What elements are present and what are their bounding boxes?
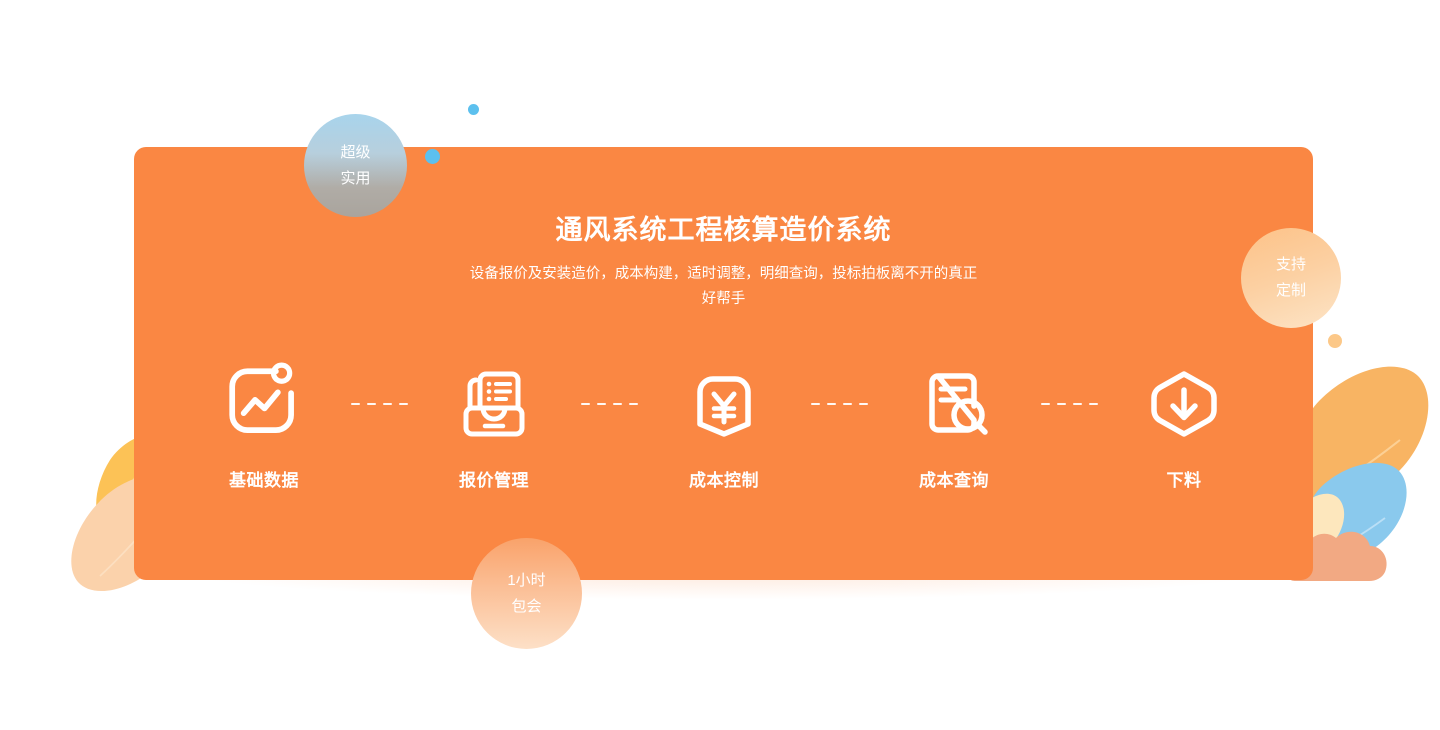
feature-item-cutting[interactable]: 下料 (1114, 362, 1254, 491)
dash (1073, 403, 1082, 406)
dash (629, 403, 638, 406)
dash (827, 403, 836, 406)
badge-line-1: 1小时 (507, 568, 545, 594)
page-title: 通风系统工程核算造价系统 (134, 212, 1313, 248)
connector-3 (806, 362, 872, 446)
dot-blue-large (425, 149, 440, 164)
inbox-document-icon (452, 362, 536, 446)
dash (1041, 403, 1050, 406)
connector-4 (1036, 362, 1102, 446)
dash (1057, 403, 1066, 406)
feature-label: 报价管理 (459, 466, 529, 491)
hero-card: 通风系统工程核算造价系统 设备报价及安装造价，成本构建，适时调整，明细查询，投标… (134, 147, 1313, 580)
feature-label: 成本查询 (919, 466, 989, 491)
dash (843, 403, 852, 406)
feature-row: 基础数据 (194, 362, 1254, 491)
feature-item-basic-data[interactable]: 基础数据 (194, 362, 334, 491)
dash (367, 403, 376, 406)
feature-item-quote-management[interactable]: 报价管理 (424, 362, 564, 491)
dash (351, 403, 360, 406)
badge-line-1: 超级 (340, 140, 370, 166)
dash (581, 403, 590, 406)
badge-support-custom[interactable]: 支持 定制 (1241, 228, 1341, 328)
connector-2 (576, 362, 642, 446)
dash (1089, 403, 1098, 406)
leaf-blue-right (1305, 463, 1406, 561)
feature-label: 成本控制 (689, 466, 759, 491)
hero-banner: 通风系统工程核算造价系统 设备报价及安装造价，成本构建，适时调整，明细查询，投标… (0, 0, 1440, 730)
yuan-banner-icon (682, 362, 766, 446)
hexagon-download-icon (1142, 362, 1226, 446)
page-subtitle: 设备报价及安装造价，成本构建，适时调整，明细查询，投标拍板离不开的真正好帮手 (464, 262, 984, 312)
dot-orange (1328, 334, 1342, 348)
dash (859, 403, 868, 406)
heading-block: 通风系统工程核算造价系统 设备报价及安装造价，成本构建，适时调整，明细查询，投标… (134, 212, 1313, 312)
feature-label: 基础数据 (229, 466, 299, 491)
dash (383, 403, 392, 406)
badge-one-hour-mastery[interactable]: 1小时 包会 (471, 538, 582, 649)
badge-line-2: 包会 (511, 594, 541, 620)
badge-line-1: 支持 (1276, 252, 1306, 278)
badge-line-2: 实用 (340, 166, 370, 192)
feature-item-cost-control[interactable]: 成本控制 (654, 362, 794, 491)
dash (811, 403, 820, 406)
document-search-icon (912, 362, 996, 446)
feature-label: 下料 (1167, 466, 1202, 491)
badge-super-useful[interactable]: 超级 实用 (304, 114, 407, 217)
dash (597, 403, 606, 406)
dash (399, 403, 408, 406)
chart-data-icon (222, 362, 306, 446)
badge-line-2: 定制 (1276, 278, 1306, 304)
dot-blue-small (468, 104, 479, 115)
dash (613, 403, 622, 406)
connector-1 (346, 362, 412, 446)
feature-item-cost-query[interactable]: 成本查询 (884, 362, 1024, 491)
leaf-orange-right (1297, 367, 1429, 506)
